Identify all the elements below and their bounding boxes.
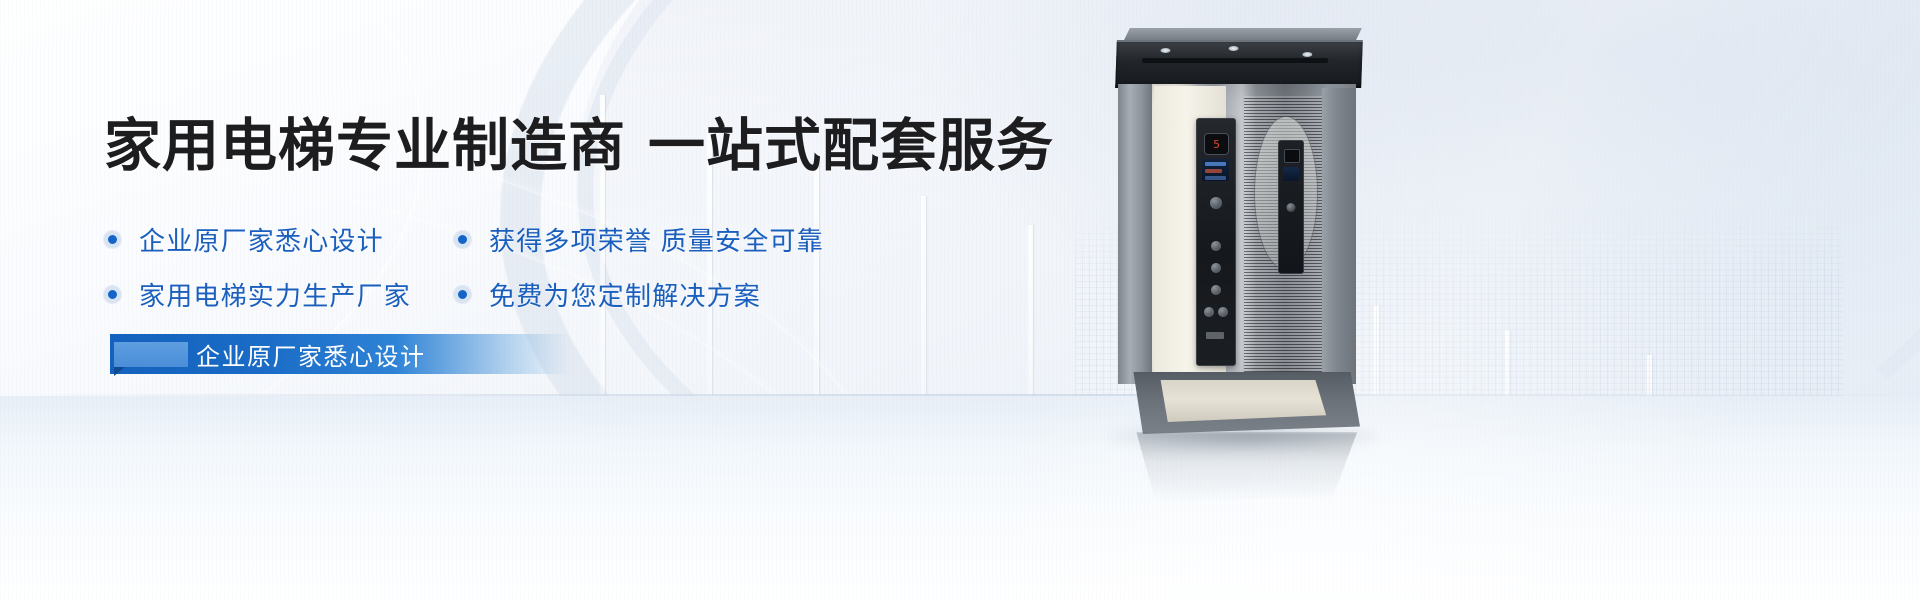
canopy-downlight [1302, 52, 1312, 57]
list-item: 企业原厂家悉心设计 [104, 221, 454, 258]
bullet-label: 获得多项荣誉 质量安全可靠 [489, 221, 824, 258]
bullet-row: 企业原厂家悉心设计 获得多项荣誉 质量安全可靠 [104, 212, 934, 267]
headline-part-2: 一站式配套服务 [648, 114, 1054, 178]
cop-brand-plate [1206, 332, 1224, 339]
cop-info-screen [1202, 159, 1229, 181]
page-title: 家用电梯专业制造商一站式配套服务 [104, 112, 1054, 180]
ribbon-fold-icon [114, 367, 125, 376]
canopy-downlight [1228, 46, 1238, 51]
feature-bullet-list: 企业原厂家悉心设计 获得多项荣誉 质量安全可靠 家用电梯实力生产厂家 免费为您定… [104, 212, 934, 322]
elevator-right-frame [1322, 88, 1356, 384]
rear-info-screen [1283, 167, 1299, 181]
floor-indicator-display: 5 [1204, 133, 1229, 155]
canopy-downlight [1160, 48, 1170, 53]
cop-floor-button[interactable] [1211, 263, 1221, 273]
elevator-cabin-image: 5 [1118, 40, 1368, 420]
cop-main-button[interactable] [1210, 197, 1222, 209]
ribbon-label: 企业原厂家悉心设计 [196, 337, 426, 372]
elevator-floor-tile [1148, 380, 1328, 422]
bullet-label: 免费为您定制解决方案 [489, 276, 761, 313]
rear-call-button [1287, 203, 1296, 212]
elevator-canopy [1115, 40, 1363, 88]
highlight-ribbon: 企业原厂家悉心设计 [110, 334, 570, 374]
elevator-left-pillar [1118, 84, 1152, 384]
bullet-dot-icon [104, 286, 121, 303]
headline-part-1: 家用电梯专业制造商 [104, 114, 626, 178]
bullet-label: 家用电梯实力生产厂家 [139, 276, 411, 313]
canopy-vent-slot [1142, 58, 1328, 63]
elevator-control-panel: 5 [1196, 118, 1236, 366]
bullet-row: 家用电梯实力生产厂家 免费为您定制解决方案 [104, 267, 934, 322]
floor-indicator-value: 5 [1213, 139, 1220, 150]
list-item: 免费为您定制解决方案 [454, 276, 914, 313]
cop-floor-button[interactable] [1211, 241, 1221, 251]
home-elevator-hero-banner: 5 家用电梯专业制造商一站式配套服务 企业原厂家悉心设计 [0, 0, 1920, 600]
bullet-dot-icon [454, 231, 471, 248]
rear-floor-display [1284, 149, 1300, 163]
bullet-dot-icon [104, 231, 121, 248]
ribbon-flag-icon [114, 342, 188, 367]
list-item: 获得多项荣誉 质量安全可靠 [454, 221, 914, 258]
cop-door-close-button[interactable] [1218, 307, 1228, 317]
elevator-rear-control-panel [1278, 140, 1304, 274]
cop-door-open-button[interactable] [1204, 307, 1214, 317]
bullet-dot-icon [454, 286, 471, 303]
bullet-label: 企业原厂家悉心设计 [139, 221, 384, 258]
elevator-floor-reflection [1122, 432, 1362, 502]
list-item: 家用电梯实力生产厂家 [104, 276, 454, 313]
cop-floor-button[interactable] [1211, 285, 1221, 295]
banner-copy: 家用电梯专业制造商一站式配套服务 企业原厂家悉心设计 获得多项荣誉 质量安全可靠… [0, 0, 1100, 600]
